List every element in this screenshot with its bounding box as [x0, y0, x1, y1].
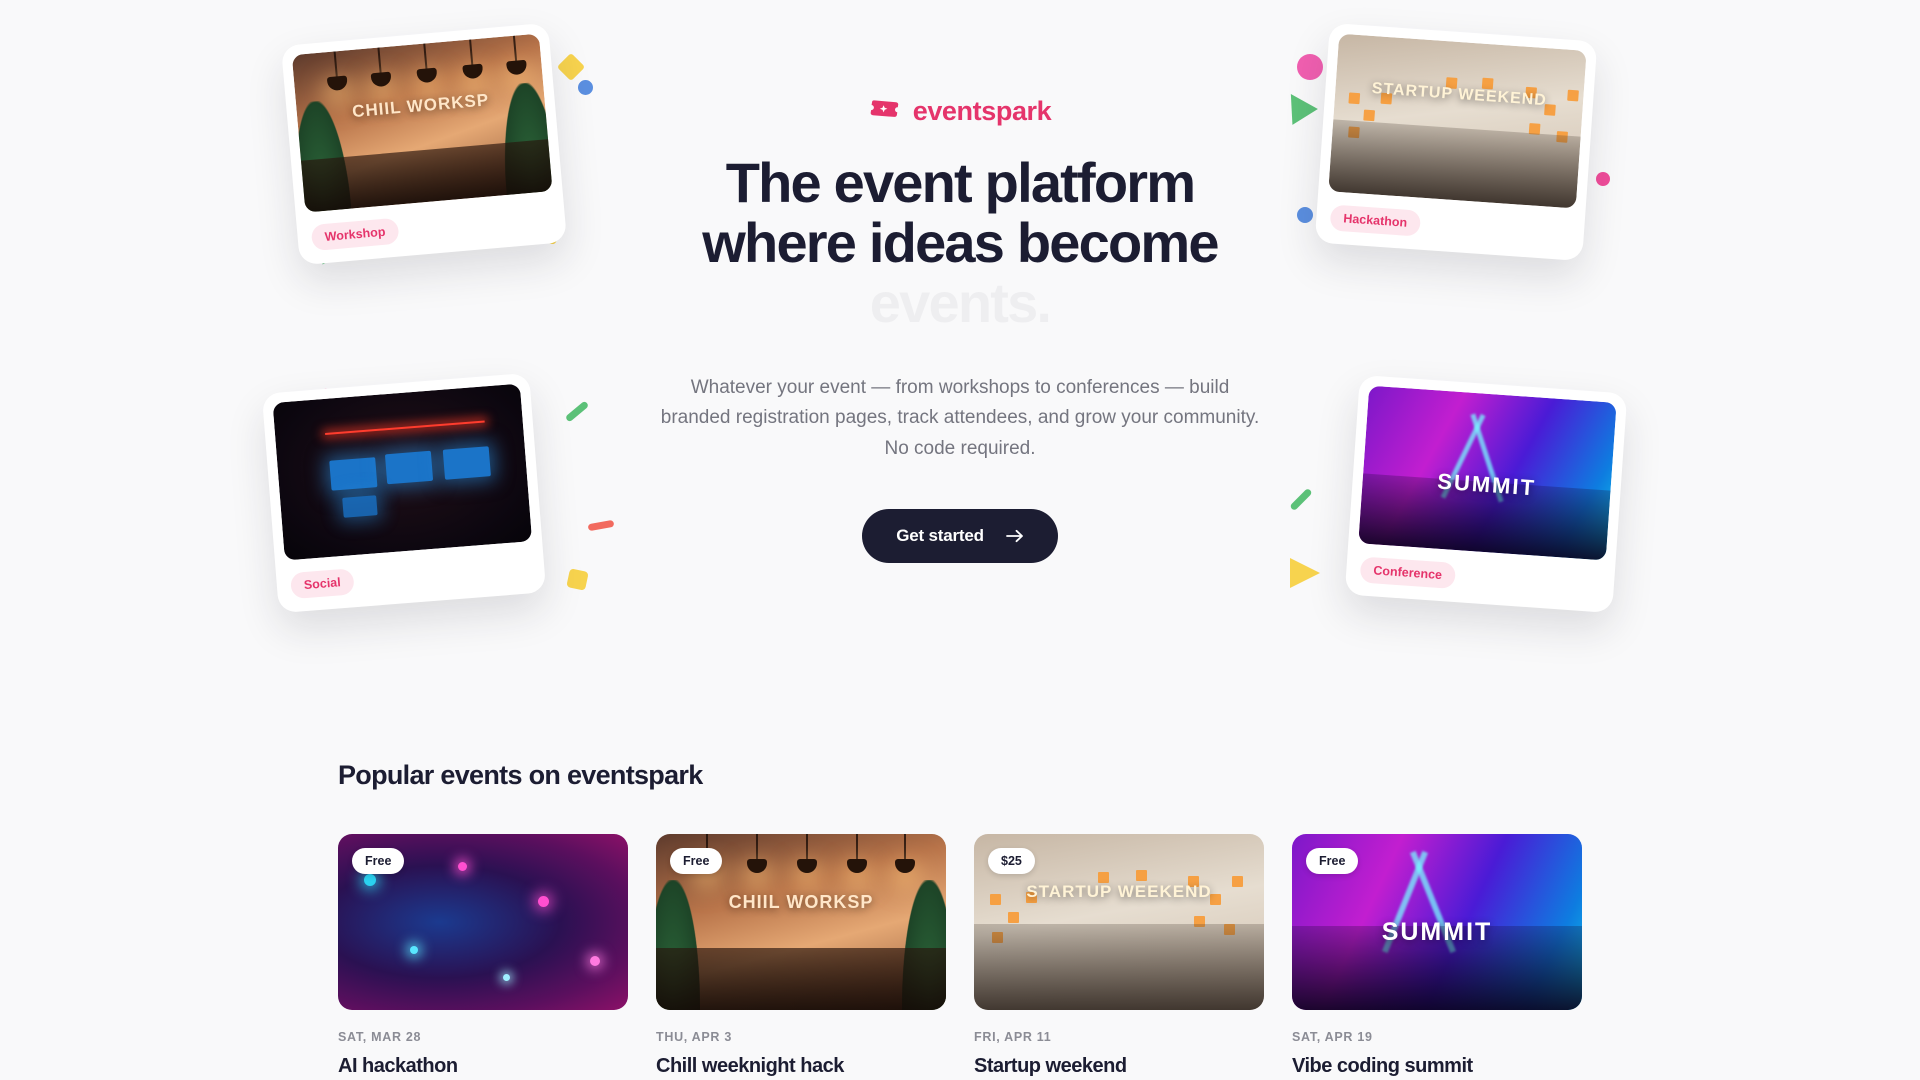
- popular-events-title: Popular events on eventspark: [338, 760, 1582, 791]
- decor-diamond-yellow-top-left: [557, 53, 585, 81]
- decor-square-yellow-left-bottom: [566, 568, 589, 591]
- floating-card-photo: [273, 384, 533, 561]
- floating-card-social[interactable]: Social: [262, 373, 546, 613]
- photo-caption: SUMMIT: [1292, 918, 1582, 947]
- floating-card-photo: STARTUP WEEKEND: [1328, 34, 1586, 209]
- event-card[interactable]: Free SAT, MAR 28 AI hackathon: [338, 834, 628, 1079]
- photo-caption: CHIIL WORKSP: [656, 892, 946, 913]
- event-title: AI hackathon: [338, 1054, 628, 1079]
- event-date: SAT, APR 19: [1292, 1030, 1582, 1044]
- headline-line-2: where ideas become: [650, 213, 1270, 273]
- event-price-badge: Free: [1306, 848, 1358, 874]
- event-date: THU, APR 3: [656, 1030, 946, 1044]
- brand-logo[interactable]: eventspark: [650, 96, 1270, 127]
- page-title: The event platform where ideas become ev…: [650, 153, 1270, 333]
- card-chip-hackathon: Hackathon: [1330, 204, 1422, 236]
- card-chip-workshop: Workshop: [311, 218, 400, 251]
- event-title: Chill weeknight hack: [656, 1054, 946, 1079]
- event-card[interactable]: Free SUMMIT SAT, APR 19 Vibe coding summ…: [1292, 834, 1582, 1079]
- photo-art-workshop: CHIIL WORKSP: [292, 34, 553, 213]
- event-price-badge: $25: [988, 848, 1035, 874]
- photo-art-conference: SUMMIT: [1358, 386, 1616, 561]
- decor-triangle-green-top-right: [1278, 86, 1318, 125]
- decor-circle-blue-top-left: [578, 80, 593, 95]
- event-price-badge: Free: [670, 848, 722, 874]
- card-chip-social: Social: [290, 568, 355, 599]
- hero-content: eventspark The event platform where idea…: [650, 96, 1270, 563]
- decor-circle-blue-top-right: [1297, 207, 1313, 223]
- get-started-button[interactable]: Get started: [862, 509, 1058, 563]
- brand-name: eventspark: [913, 96, 1052, 127]
- photo-art-social: [273, 384, 533, 561]
- headline-line-1: The event platform: [650, 153, 1270, 213]
- hero-subheading: Whatever your event — from workshops to …: [650, 373, 1270, 465]
- event-price-badge: Free: [352, 848, 404, 874]
- event-date: FRI, APR 11: [974, 1030, 1264, 1044]
- event-card-photo: $25 STARTUP WEEKEND: [974, 834, 1264, 1010]
- event-card-photo: Free CHIIL WORKSP: [656, 834, 946, 1010]
- event-date: SAT, MAR 28: [338, 1030, 628, 1044]
- get-started-label: Get started: [896, 526, 984, 546]
- floating-card-workshop[interactable]: CHIIL WORKSP Workshop: [281, 23, 567, 266]
- event-card[interactable]: $25 STARTUP WEEKEND FRI, AP: [974, 834, 1264, 1079]
- decor-dash-red-left: [588, 520, 615, 531]
- decor-dash-green-left: [565, 400, 589, 422]
- photo-caption: STARTUP WEEKEND: [1335, 77, 1584, 112]
- ticket-sparkle-icon: [869, 97, 901, 126]
- popular-events-section: Popular events on eventspark Free SAT, M…: [338, 760, 1582, 1079]
- event-grid: Free SAT, MAR 28 AI hackathon Free: [338, 834, 1582, 1079]
- card-chip-conference: Conference: [1360, 556, 1456, 589]
- floating-card-hackathon[interactable]: STARTUP WEEKEND Hackathon: [1315, 23, 1598, 261]
- decor-circle-pink-top-right: [1297, 54, 1323, 80]
- arrow-right-icon: [1006, 529, 1024, 543]
- floating-card-conference[interactable]: SUMMIT Conference: [1345, 375, 1628, 613]
- floating-card-photo: SUMMIT: [1358, 386, 1616, 561]
- decor-triangle-yellow-right: [1290, 558, 1320, 588]
- event-title: Vibe coding summit: [1292, 1054, 1582, 1079]
- headline-line-3: events.: [650, 273, 1270, 333]
- event-title: Startup weekend: [974, 1054, 1264, 1079]
- decor-circle-pink-right-mid: [1596, 172, 1610, 186]
- photo-caption: STARTUP WEEKEND: [974, 882, 1264, 902]
- event-card-photo: Free: [338, 834, 628, 1010]
- event-card[interactable]: Free CHIIL WORKSP THU, APR 3 Chill weekn…: [656, 834, 946, 1079]
- event-card-photo: Free SUMMIT: [1292, 834, 1582, 1010]
- floating-card-photo: CHIIL WORKSP: [292, 34, 553, 213]
- decor-dash-green-right: [1289, 488, 1312, 511]
- hero-section: CHIIL WORKSP Workshop STARTUP WEEK: [0, 0, 1920, 690]
- photo-art-hackathon: STARTUP WEEKEND: [1328, 34, 1586, 209]
